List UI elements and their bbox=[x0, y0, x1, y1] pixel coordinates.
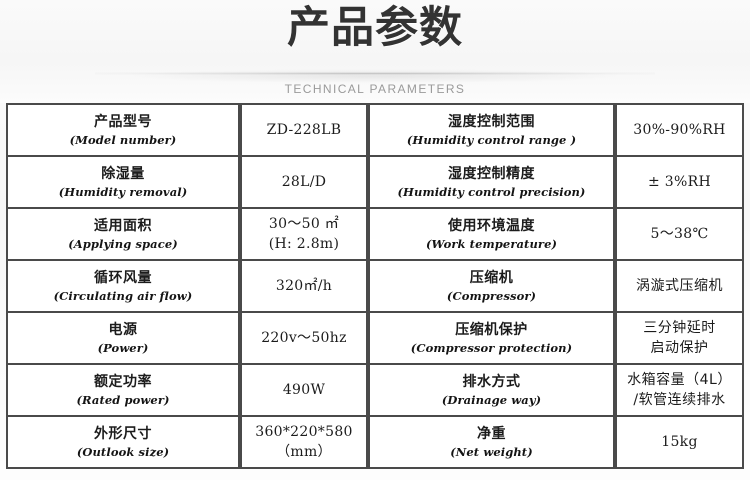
spec-value-line1: ± 3%RH bbox=[617, 172, 742, 192]
spec-label-en: (Power) bbox=[8, 340, 238, 356]
spec-label-cell: 适用面积 (Applying space) bbox=[6, 209, 240, 261]
spec-table-body: 产品型号 (Model number) ZD-228LB 湿度控制范围 (Hum… bbox=[6, 103, 744, 469]
spec-value-cell: 220v～50hz bbox=[240, 313, 368, 365]
spec-value-cell: 15kg bbox=[615, 417, 744, 469]
spec-table-wrap: 产品型号 (Model number) ZD-228LB 湿度控制范围 (Hum… bbox=[6, 103, 744, 469]
spec-value-line1: 5～38℃ bbox=[617, 224, 742, 244]
spec-label-cell: 外形尺寸 (Outlook size) bbox=[6, 417, 240, 469]
spec-label-cell: 湿度控制范围 (Humidity control range ) bbox=[368, 103, 615, 157]
table-row: 除湿量 (Humidity removal) 28L/D 湿度控制精度 (Hum… bbox=[6, 157, 744, 209]
spec-label-cn: 压缩机 bbox=[370, 269, 613, 288]
spec-value-line1: 水箱容量（4L） bbox=[617, 370, 742, 390]
spec-label-cn: 电源 bbox=[8, 321, 238, 340]
spec-value-cell: 三分钟延时 启动保护 bbox=[615, 313, 744, 365]
spec-label-cell: 额定功率 (Rated power) bbox=[6, 365, 240, 417]
spec-label-cn: 除湿量 bbox=[8, 165, 238, 184]
spec-value-line2: 启动保护 bbox=[617, 338, 742, 358]
spec-label-cn: 循环风量 bbox=[8, 269, 238, 288]
spec-label-cn: 产品型号 bbox=[8, 113, 238, 132]
spec-label-cn: 额定功率 bbox=[8, 373, 238, 392]
header-divider bbox=[95, 72, 655, 75]
table-row: 循环风量 (Circulating air flow) 320㎡/h 压缩机 (… bbox=[6, 261, 744, 313]
spec-label-cell: 产品型号 (Model number) bbox=[6, 103, 240, 157]
spec-value-line1: 28L/D bbox=[242, 172, 366, 192]
spec-label-en: (Humidity control precision) bbox=[370, 184, 613, 200]
spec-label-cell: 电源 (Power) bbox=[6, 313, 240, 365]
spec-value-cell: ± 3%RH bbox=[615, 157, 744, 209]
spec-label-en: (Rated power) bbox=[8, 392, 238, 408]
spec-value-line1: 320㎡/h bbox=[242, 276, 366, 296]
spec-value-line1: 220v～50hz bbox=[242, 328, 366, 348]
spec-value-line1: 360*220*580 bbox=[242, 422, 366, 442]
spec-value-line1: 15kg bbox=[617, 432, 742, 452]
spec-label-cell: 湿度控制精度 (Humidity control precision) bbox=[368, 157, 615, 209]
table-row: 产品型号 (Model number) ZD-228LB 湿度控制范围 (Hum… bbox=[6, 103, 744, 157]
spec-label-cn: 压缩机保护 bbox=[370, 321, 613, 340]
table-row: 适用面积 (Applying space) 30～50 ㎡ (H: 2.8m) … bbox=[6, 209, 744, 261]
spec-label-cn: 湿度控制精度 bbox=[370, 165, 613, 184]
page-header: 产品参数 TECHNICAL PARAMETERS bbox=[0, 0, 750, 103]
spec-label-cn: 使用环境温度 bbox=[370, 217, 613, 236]
spec-label-en: (Applying space) bbox=[8, 236, 238, 252]
spec-label-en: (Net weight) bbox=[370, 444, 613, 460]
spec-label-cn: 外形尺寸 bbox=[8, 425, 238, 444]
spec-label-en: (Humidity control range ) bbox=[370, 132, 613, 148]
spec-label-cn: 湿度控制范围 bbox=[370, 113, 613, 132]
spec-value-cell: 28L/D bbox=[240, 157, 368, 209]
spec-value-line1: ZD-228LB bbox=[242, 120, 366, 140]
page-subtitle: TECHNICAL PARAMETERS bbox=[0, 80, 750, 98]
spec-label-en: (Compressor) bbox=[370, 288, 613, 304]
page-title: 产品参数 bbox=[0, 2, 750, 54]
spec-value-line1: 涡漩式压缩机 bbox=[617, 276, 742, 296]
spec-label-en: (Outlook size) bbox=[8, 444, 238, 460]
spec-label-cell: 压缩机保护 (Compressor protection) bbox=[368, 313, 615, 365]
spec-value-cell: 水箱容量（4L） /软管连续排水 bbox=[615, 365, 744, 417]
spec-label-en: (Drainage way) bbox=[370, 392, 613, 408]
spec-value-cell: 360*220*580 （mm） bbox=[240, 417, 368, 469]
spec-value-line2: （mm） bbox=[242, 442, 366, 462]
spec-label-cell: 循环风量 (Circulating air flow) bbox=[6, 261, 240, 313]
spec-value-line1: 三分钟延时 bbox=[617, 318, 742, 338]
spec-label-cell: 压缩机 (Compressor) bbox=[368, 261, 615, 313]
spec-label-cn: 适用面积 bbox=[8, 217, 238, 236]
spec-label-en: (Work temperature) bbox=[370, 236, 613, 252]
table-row: 电源 (Power) 220v～50hz 压缩机保护 (Compressor p… bbox=[6, 313, 744, 365]
spec-value-cell: 30～50 ㎡ (H: 2.8m) bbox=[240, 209, 368, 261]
spec-label-cell: 使用环境温度 (Work temperature) bbox=[368, 209, 615, 261]
spec-value-line1: 30～50 ㎡ bbox=[242, 214, 366, 234]
spec-table: 产品型号 (Model number) ZD-228LB 湿度控制范围 (Hum… bbox=[6, 103, 744, 469]
spec-value-cell: 320㎡/h bbox=[240, 261, 368, 313]
spec-label-cn: 净重 bbox=[370, 425, 613, 444]
spec-label-cell: 排水方式 (Drainage way) bbox=[368, 365, 615, 417]
spec-label-cell: 净重 (Net weight) bbox=[368, 417, 615, 469]
spec-value-cell: 涡漩式压缩机 bbox=[615, 261, 744, 313]
spec-label-en: (Model number) bbox=[8, 132, 238, 148]
spec-value-line1: 30%-90%RH bbox=[617, 120, 742, 140]
table-row: 额定功率 (Rated power) 490W 排水方式 (Drainage w… bbox=[6, 365, 744, 417]
spec-value-line2: (H: 2.8m) bbox=[242, 234, 366, 254]
spec-value-cell: 30%-90%RH bbox=[615, 103, 744, 157]
spec-label-cn: 排水方式 bbox=[370, 373, 613, 392]
spec-label-cell: 除湿量 (Humidity removal) bbox=[6, 157, 240, 209]
spec-value-cell: 490W bbox=[240, 365, 368, 417]
spec-label-en: (Circulating air flow) bbox=[8, 288, 238, 304]
spec-label-en: (Compressor protection) bbox=[370, 340, 613, 356]
spec-value-line2: /软管连续排水 bbox=[617, 390, 742, 410]
spec-value-cell: 5～38℃ bbox=[615, 209, 744, 261]
table-row: 外形尺寸 (Outlook size) 360*220*580 （mm） 净重 … bbox=[6, 417, 744, 469]
spec-value-cell: ZD-228LB bbox=[240, 103, 368, 157]
spec-value-line1: 490W bbox=[242, 380, 366, 400]
product-spec-page: 产品参数 TECHNICAL PARAMETERS 产品型号 (Model nu… bbox=[0, 0, 750, 480]
spec-label-en: (Humidity removal) bbox=[8, 184, 238, 200]
